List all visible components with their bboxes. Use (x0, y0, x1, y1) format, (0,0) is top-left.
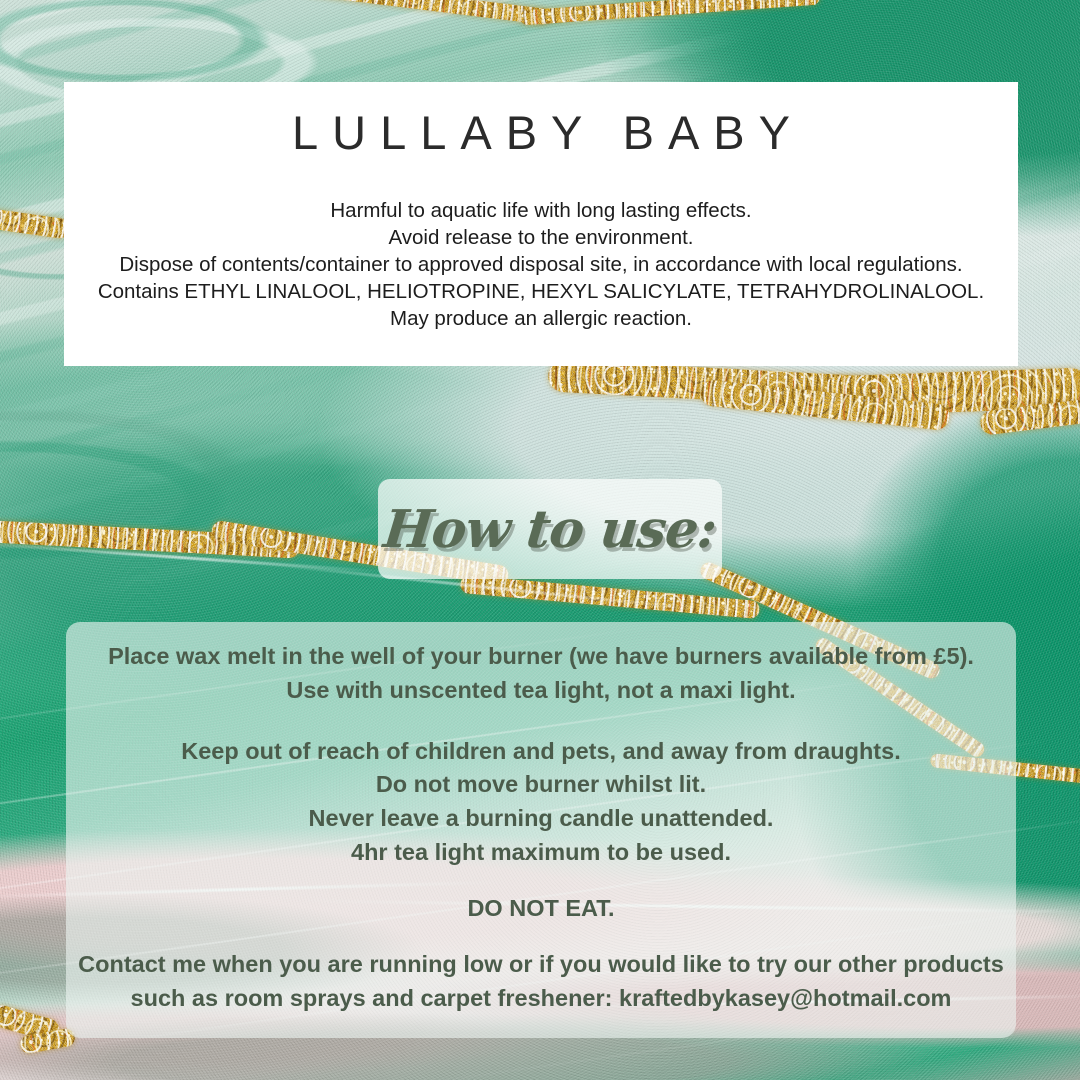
contact-line: such as room sprays and carpet freshener… (66, 982, 1016, 1016)
instruction-line: Never leave a burning candle unattended. (66, 802, 1016, 836)
hazard-line: Harmful to aquatic life with long lastin… (98, 197, 984, 224)
instruction-line: Keep out of reach of children and pets, … (66, 735, 1016, 769)
hazard-line: May produce an allergic reaction. (98, 305, 984, 332)
how-to-use-heading: How to use: (381, 499, 719, 560)
instruction-spacer (66, 708, 1016, 735)
do-not-eat-warning: DO NOT EAT. (66, 892, 1016, 926)
how-to-use-panel: How to use: (378, 479, 722, 579)
hazard-line: Avoid release to the environment. (98, 224, 984, 251)
instruction-line: Place wax melt in the well of your burne… (66, 640, 1016, 674)
instruction-line: 4hr tea light maximum to be used. (66, 836, 1016, 870)
page-title: LULLABY BABY (278, 107, 804, 159)
product-info-card: LULLABY BABY Harmful to aquatic life wit… (64, 82, 1018, 366)
instruction-line: Do not move burner whilst lit. (66, 768, 1016, 802)
hazard-line: Dispose of contents/container to approve… (98, 251, 984, 278)
instruction-spacer (66, 870, 1016, 892)
contact-line: Contact me when you are running low or i… (66, 948, 1016, 982)
poster-canvas: LULLABY BABY Harmful to aquatic life wit… (0, 0, 1080, 1080)
gold-vein-left-upper (0, 204, 71, 239)
hazard-statement-block: Harmful to aquatic life with long lastin… (98, 197, 984, 332)
instructions-panel: Place wax melt in the well of your burne… (66, 622, 1016, 1038)
hazard-line: Contains ETHYL LINALOOL, HELIOTROPINE, H… (98, 278, 984, 305)
gold-vein-top-right (520, 0, 820, 25)
instruction-line: Use with unscented tea light, not a maxi… (66, 674, 1016, 708)
instruction-spacer (66, 926, 1016, 948)
gold-vein-top (300, 0, 550, 25)
